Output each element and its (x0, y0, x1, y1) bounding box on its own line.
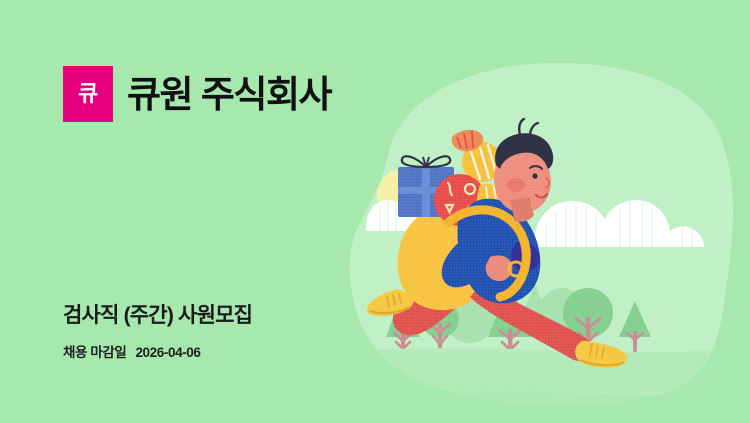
ground (330, 345, 750, 423)
job-poster: 큐 큐원 주식회사 검사직 (주간) 사원모집 채용 마감일 2026-04-0… (0, 0, 750, 423)
deadline-row: 채용 마감일 2026-04-06 (63, 341, 252, 361)
deadline-label: 채용 마감일 (63, 341, 126, 361)
deadline-date: 2026-04-06 (135, 345, 200, 360)
company-name: 큐원 주식회사 (127, 76, 331, 113)
running-delivery-person-illustration (330, 45, 750, 423)
job-info-block: 검사직 (주간) 사원모집 채용 마감일 2026-04-06 (63, 303, 252, 361)
logo-glyph: 큐 (78, 83, 98, 105)
company-header: 큐 큐원 주식회사 (63, 66, 331, 122)
logo-mark: 큐 (63, 66, 113, 122)
job-title: 검사직 (주간) 사원모집 (63, 303, 252, 328)
eye (532, 173, 537, 178)
cheek (507, 178, 525, 192)
